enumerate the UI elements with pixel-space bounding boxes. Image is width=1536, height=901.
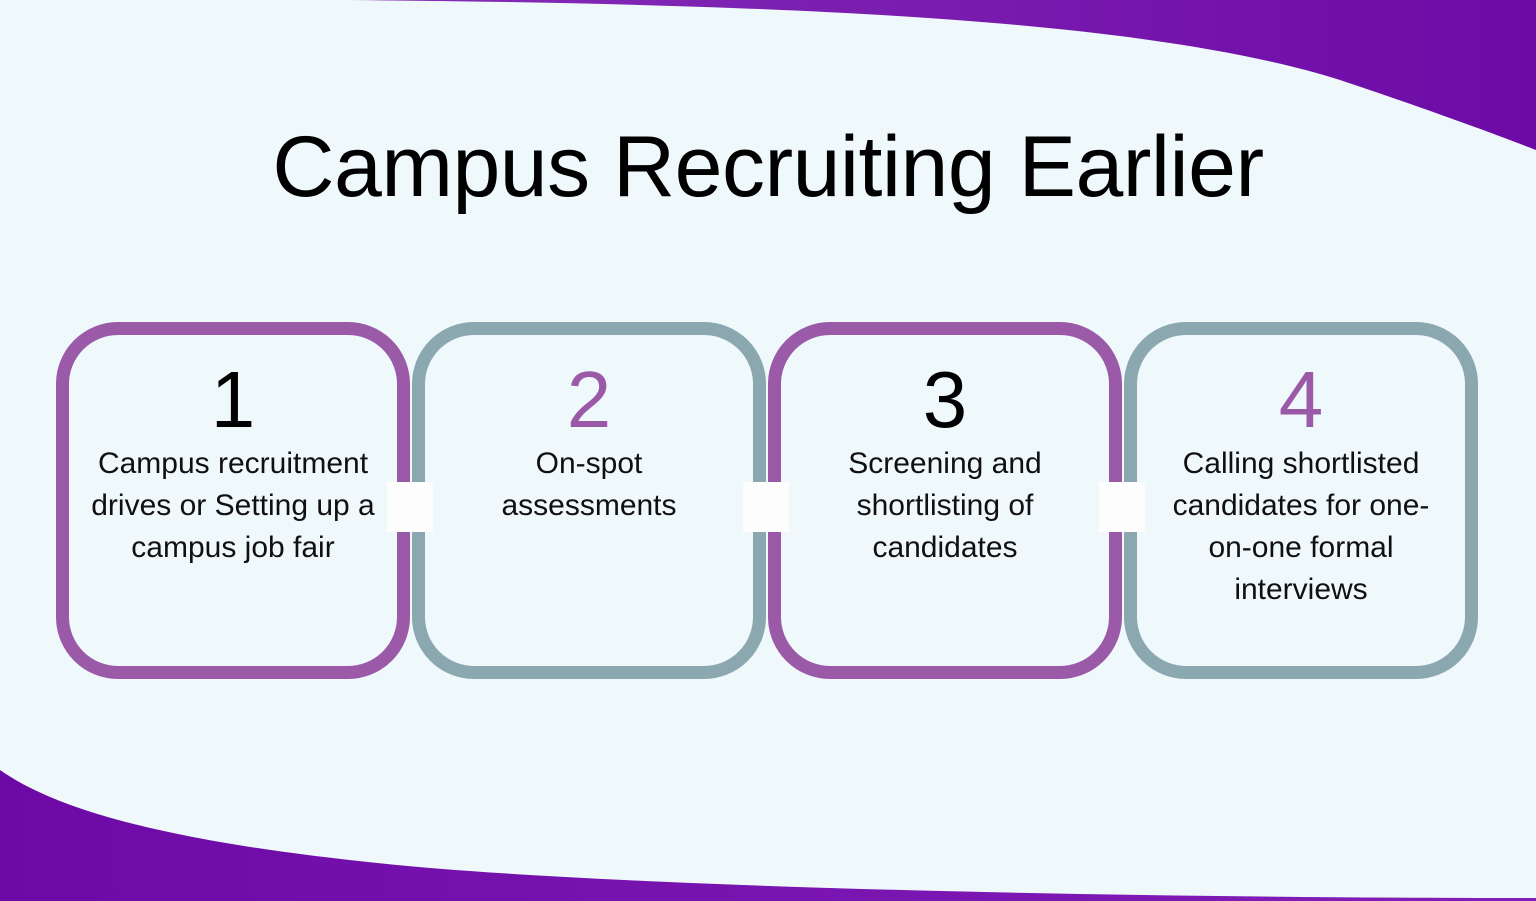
swoosh-bottom-left	[0, 770, 1536, 901]
step-number-2: 2	[567, 359, 612, 441]
step-connector-1-2	[387, 482, 433, 532]
step-connector-3-4	[1099, 482, 1145, 532]
step-description-2: On-spot assessments	[445, 443, 733, 527]
step-card-2[interactable]: 2 On-spot assessments	[412, 322, 766, 679]
step-card-1[interactable]: 1 Campus recruitment drives or Setting u…	[56, 322, 410, 679]
slide-canvas: Campus Recruiting Earlier 1 Campus recru…	[0, 0, 1536, 901]
step-number-4: 4	[1279, 359, 1324, 441]
page-title: Campus Recruiting Earlier	[0, 122, 1536, 212]
step-number-3: 3	[923, 359, 968, 441]
step-card-4[interactable]: 4 Calling shortlisted candidates for one…	[1124, 322, 1478, 679]
step-description-4: Calling shortlisted candidates for one-o…	[1157, 443, 1445, 611]
step-description-1: Campus recruitment drives or Setting up …	[89, 443, 377, 569]
step-card-3[interactable]: 3 Screening and shortlisting of candidat…	[768, 322, 1122, 679]
step-connector-2-3	[743, 482, 789, 532]
step-number-1: 1	[211, 359, 256, 441]
step-description-3: Screening and shortlisting of candidates	[801, 443, 1089, 569]
process-steps-row: 1 Campus recruitment drives or Setting u…	[0, 322, 1536, 682]
